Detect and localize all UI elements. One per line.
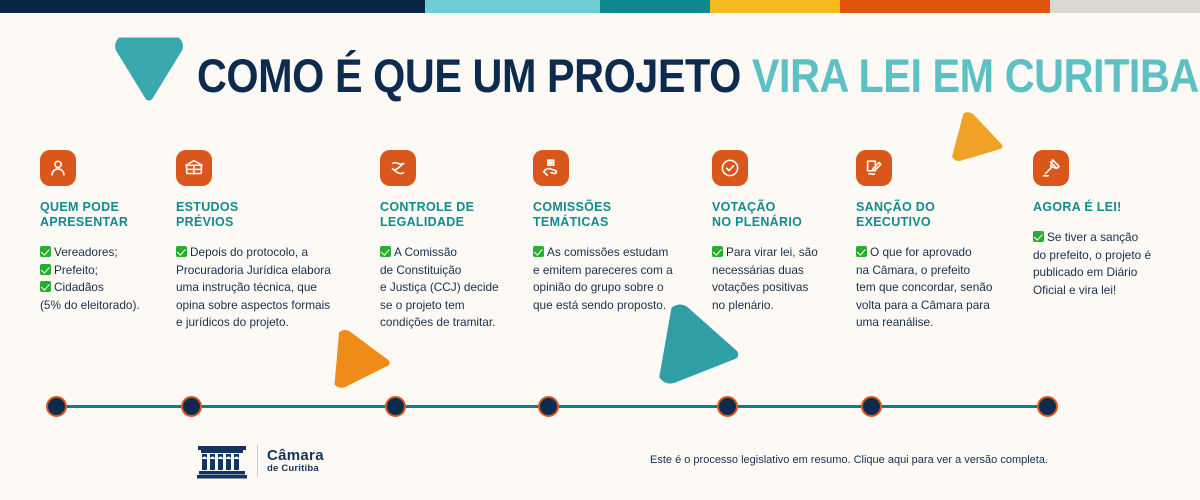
step-line: volta para a Câmara para (856, 297, 1021, 315)
step-body-quem-pode-apresentar: Vereadores;Prefeito;Cidadãos(5% do eleit… (40, 244, 180, 314)
step-line-text: e jurídicos do projeto. (176, 315, 289, 329)
step-line: de Constituição (380, 262, 520, 280)
step-body-estudos-previos: Depois do protocolo, aProcuradoria Juríd… (176, 244, 356, 332)
step-title-estudos-previos: ESTUDOS PRÉVIOS (176, 200, 356, 230)
step-line-text: na Câmara, o prefeito (856, 263, 970, 277)
step-line-text: e emitem pareceres com a (533, 263, 673, 277)
step-body-agora-e-lei: Se tiver a sançãodo prefeito, o projeto … (1033, 229, 1173, 299)
step-line: Vereadores; (40, 244, 180, 262)
building-icon (196, 442, 248, 480)
timeline-dot-2[interactable] (181, 396, 202, 417)
step-line-text: necessárias duas (712, 263, 804, 277)
timeline-dot-4[interactable] (538, 396, 559, 417)
step-title-comissoes-tematicas: COMISSÕES TEMÁTICAS (533, 200, 698, 230)
step-sancao-do-executivo: SANÇÃO DO EXECUTIVOO que for aprovadona … (856, 150, 1021, 332)
step-line: do prefeito, o projeto é (1033, 247, 1173, 265)
step-title-sancao-do-executivo: SANÇÃO DO EXECUTIVO (856, 200, 1021, 230)
step-line-text: Procuradoria Jurídica elabora (176, 263, 331, 277)
topbar-segment-beige (1050, 0, 1200, 13)
step-line: Oficial e vira lei! (1033, 282, 1173, 300)
step-line-text: no plenário. (712, 298, 774, 312)
topbar-segment-light-teal (425, 0, 600, 13)
topbar-segment-yellow (710, 0, 840, 13)
teal-triangle-down (115, 38, 183, 101)
step-line: que está sendo proposto. (533, 297, 698, 315)
step-line-text: e Justiça (CCJ) decide (380, 280, 499, 294)
scales-icon (380, 150, 416, 186)
check-icon (380, 246, 391, 257)
step-line-text: tem que concordar, senão (856, 280, 992, 294)
step-line-text: de Constituição (380, 263, 461, 277)
step-line-text: Para virar lei, são (726, 245, 818, 259)
step-line: (5% do eleitorado). (40, 297, 180, 315)
step-line: Para virar lei, são (712, 244, 852, 262)
check-icon (856, 246, 867, 257)
check-icon (176, 246, 187, 257)
step-line-text: uma reanálise. (856, 315, 933, 329)
step-body-sancao-do-executivo: O que for aprovadona Câmara, o prefeitot… (856, 244, 1021, 332)
step-line-text: Depois do protocolo, a (190, 245, 308, 259)
timeline-dot-1[interactable] (46, 396, 67, 417)
topbar-segment-orange (840, 0, 1050, 13)
check-icon (40, 246, 51, 257)
step-line: A Comissão (380, 244, 520, 262)
step-line: necessárias duas (712, 262, 852, 280)
step-line-text: Se tiver a sanção (1047, 230, 1138, 244)
step-line: opinião do grupo sobre o (533, 279, 698, 297)
logo-line-1: Câmara (267, 448, 324, 464)
page-title: COMO É QUE UM PROJETO VIRA LEI EM CURITI… (197, 52, 1199, 99)
step-line-text: que está sendo proposto. (533, 298, 666, 312)
process-steps: QUEM PODE APRESENTARVereadores;Prefeito;… (0, 150, 1200, 350)
step-line-text: Vereadores; (54, 245, 118, 259)
step-line-text: publicado em Diário (1033, 265, 1137, 279)
step-line-text: Oficial e vira lei! (1033, 283, 1116, 297)
step-line-text: O que for aprovado (870, 245, 972, 259)
step-line-text: (5% do eleitorado). (40, 298, 140, 312)
step-comissoes-tematicas: COMISSÕES TEMÁTICASAs comissões estudame… (533, 150, 698, 314)
check-icon (533, 246, 544, 257)
step-body-votacao-no-plenario: Para virar lei, sãonecessárias duasvotaç… (712, 244, 852, 314)
step-title-votacao-no-plenario: VOTAÇÃO NO PLENÁRIO (712, 200, 852, 230)
step-title-agora-e-lei: AGORA É LEI! (1033, 200, 1173, 215)
step-line: Se tiver a sanção (1033, 229, 1173, 247)
step-line: se o projeto tem (380, 297, 520, 315)
person-icon (40, 150, 76, 186)
timeline-dot-6[interactable] (861, 396, 882, 417)
check-icon (712, 246, 723, 257)
footer: Câmara de Curitiba (0, 438, 1200, 500)
step-votacao-no-plenario: VOTAÇÃO NO PLENÁRIOPara virar lei, sãone… (712, 150, 852, 314)
step-line-text: do prefeito, o projeto é (1033, 248, 1151, 262)
step-title-quem-pode-apresentar: QUEM PODE APRESENTAR (40, 200, 180, 230)
gavel-icon (1033, 150, 1069, 186)
step-line-text: volta para a Câmara para (856, 298, 990, 312)
step-line: condições de tramitar. (380, 314, 520, 332)
step-line: opina sobre aspectos formais (176, 297, 356, 315)
step-line: tem que concordar, senão (856, 279, 1021, 297)
check-icon (40, 264, 51, 275)
sign-document-icon (856, 150, 892, 186)
page-title-part1: COMO É QUE UM PROJETO (197, 49, 741, 102)
step-line: no plenário. (712, 297, 852, 315)
hand-document-icon (533, 150, 569, 186)
topbar-segment-dark-teal (600, 0, 710, 13)
step-line: Prefeito; (40, 262, 180, 280)
timeline-dot-3[interactable] (385, 396, 406, 417)
step-line: Depois do protocolo, a (176, 244, 356, 262)
step-agora-e-lei: AGORA É LEI!Se tiver a sançãodo prefeito… (1033, 150, 1173, 299)
footer-note[interactable]: Este é o processo legislativo em resumo.… (650, 454, 1048, 466)
timeline-dot-7[interactable] (1037, 396, 1058, 417)
step-line: O que for aprovado (856, 244, 1021, 262)
step-line-text: se o projeto tem (380, 298, 465, 312)
camara-de-curitiba-logo[interactable]: Câmara de Curitiba (196, 442, 324, 480)
check-circle-icon (712, 150, 748, 186)
step-line-text: A Comissão (394, 245, 457, 259)
step-line: e jurídicos do projeto. (176, 314, 356, 332)
top-color-bar (0, 0, 1200, 13)
step-line: As comissões estudam (533, 244, 698, 262)
check-icon (40, 281, 51, 292)
step-line-text: As comissões estudam (547, 245, 668, 259)
timeline (0, 396, 1200, 418)
step-body-comissoes-tematicas: As comissões estudame emitem pareceres c… (533, 244, 698, 314)
timeline-dot-5[interactable] (717, 396, 738, 417)
step-line: na Câmara, o prefeito (856, 262, 1021, 280)
page-title-part2: VIRA LEI EM CURITIBA (752, 49, 1199, 102)
institution-icon (176, 150, 212, 186)
step-line-text: opinião do grupo sobre o (533, 280, 664, 294)
step-estudos-previos: ESTUDOS PRÉVIOSDepois do protocolo, aPro… (176, 150, 356, 332)
step-line: Procuradoria Jurídica elabora (176, 262, 356, 280)
step-controle-de-legalidade: CONTROLE DE LEGALIDADEA Comissãode Const… (380, 150, 520, 332)
logo-line-2: de Curitiba (267, 464, 324, 474)
step-line: publicado em Diário (1033, 264, 1173, 282)
step-line-text: uma instrução técnica, que (176, 280, 317, 294)
step-line: votações positivas (712, 279, 852, 297)
step-line: Cidadãos (40, 279, 180, 297)
step-line: e emitem pareceres com a (533, 262, 698, 280)
step-line: e Justiça (CCJ) decide (380, 279, 520, 297)
step-line: uma reanálise. (856, 314, 1021, 332)
logo-divider (257, 445, 258, 477)
step-line-text: condições de tramitar. (380, 315, 495, 329)
topbar-segment-navy (0, 0, 425, 13)
step-line-text: votações positivas (712, 280, 808, 294)
step-line-text: Prefeito; (54, 263, 98, 277)
step-line-text: opina sobre aspectos formais (176, 298, 330, 312)
logo-wordmark: Câmara de Curitiba (267, 448, 324, 475)
step-line: uma instrução técnica, que (176, 279, 356, 297)
step-line-text: Cidadãos (54, 280, 104, 294)
step-title-controle-de-legalidade: CONTROLE DE LEGALIDADE (380, 200, 520, 230)
step-body-controle-de-legalidade: A Comissãode Constituiçãoe Justiça (CCJ)… (380, 244, 520, 332)
step-quem-pode-apresentar: QUEM PODE APRESENTARVereadores;Prefeito;… (40, 150, 180, 314)
check-icon (1033, 231, 1044, 242)
